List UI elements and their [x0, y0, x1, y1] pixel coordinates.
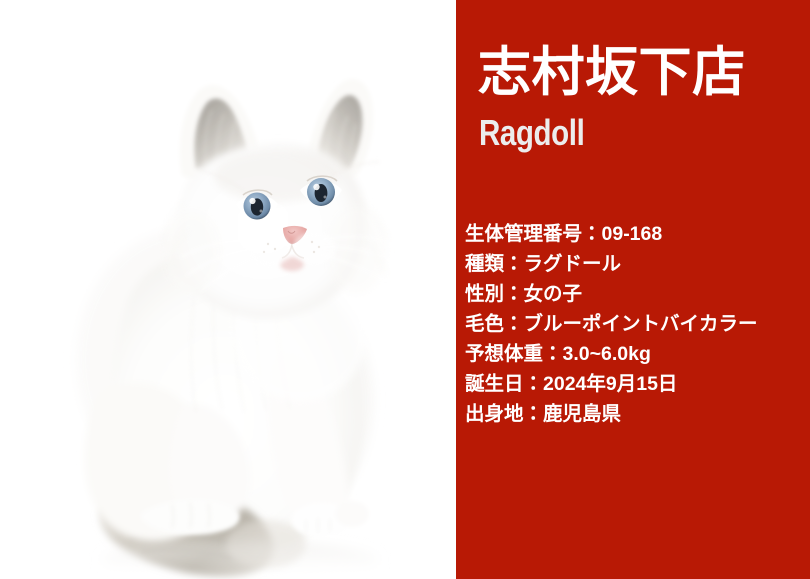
pet-profile-card: 志村坂下店 Ragdoll 生体管理番号：09-168 種類：ラグドール 性別：… — [0, 0, 810, 579]
ragdoll-kitten-photo — [0, 0, 456, 579]
detail-row-coat-color: 毛色：ブルーポイントバイカラー — [465, 309, 810, 339]
detail-row-origin: 出身地：鹿児島県 — [465, 399, 810, 429]
detail-row-breed: 種類：ラグドール — [465, 249, 810, 279]
detail-row-birthday: 誕生日：2024年9月15日 — [465, 369, 810, 399]
detail-row-expected-weight: 予想体重：3.0~6.0kg — [465, 339, 810, 369]
detail-row-sex: 性別：女の子 — [465, 279, 810, 309]
pet-details-list: 生体管理番号：09-168 種類：ラグドール 性別：女の子 毛色：ブルーポイント… — [465, 219, 810, 429]
store-name-title: 志村坂下店 — [478, 44, 746, 101]
pet-info-panel: 志村坂下店 Ragdoll 生体管理番号：09-168 種類：ラグドール 性別：… — [456, 0, 810, 579]
pet-photo-panel — [0, 0, 456, 579]
detail-row-management-number: 生体管理番号：09-168 — [465, 219, 810, 249]
breed-name-subtitle: Ragdoll — [479, 113, 584, 153]
